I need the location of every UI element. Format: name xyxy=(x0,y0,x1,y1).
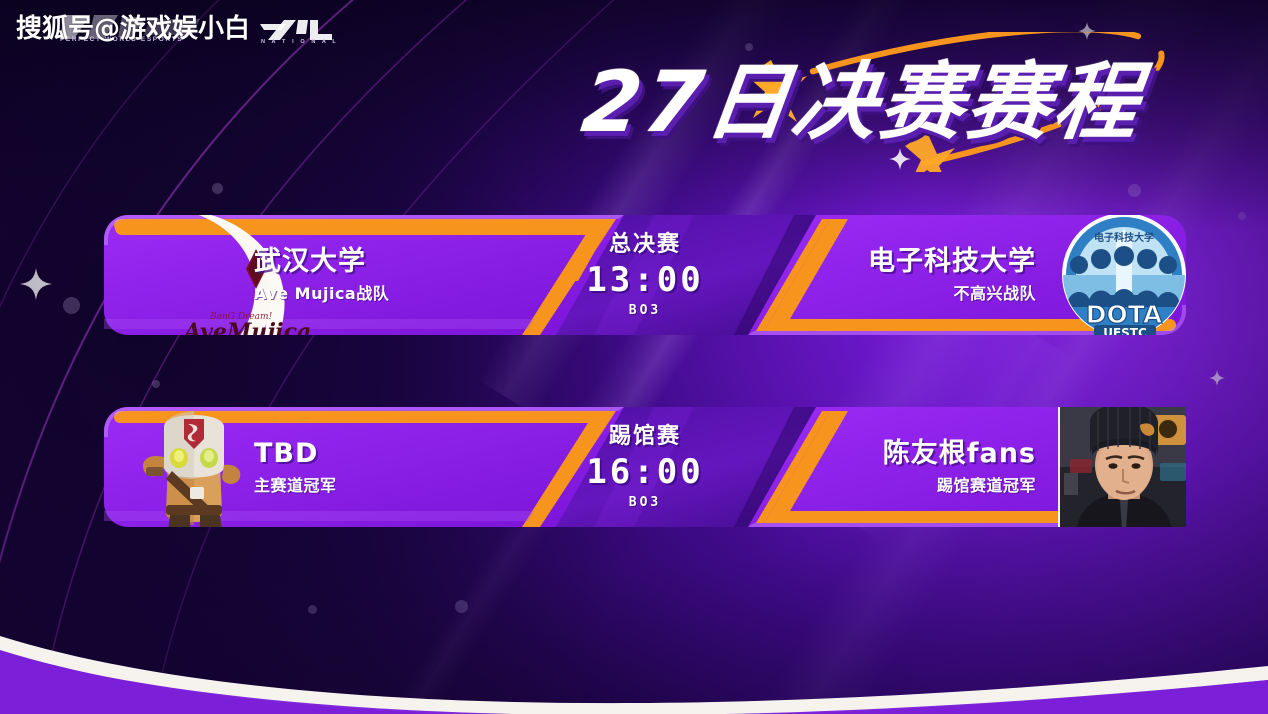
dota-uestc-circle-logo: DOTA UESTC 电子科技大学 xyxy=(1062,215,1186,335)
team-left-name: 武汉大学 xyxy=(254,246,366,278)
match-row[interactable]: TBD 主赛道冠军 踢馆赛 16:00 BO3 陈友根fans 踢馆赛道冠军 xyxy=(104,407,1186,527)
team-right-name: 电子科技大学 xyxy=(868,246,1036,278)
page-title: 27日决赛赛程 xyxy=(577,54,1147,150)
team-right: 陈友根fans 踢馆赛道冠军 xyxy=(883,407,1036,527)
svg-text:UESTC: UESTC xyxy=(1103,326,1147,335)
team-left: TBD 主赛道冠军 xyxy=(254,407,337,527)
match-row[interactable]: BanG Dream! AveMujica xyxy=(104,215,1186,335)
team-left-sub: Ave Mujica战队 xyxy=(254,283,389,305)
pnl-tagline: N A T I O N A L xyxy=(261,39,338,45)
svg-text:电子科技大学: 电子科技大学 xyxy=(1094,231,1154,244)
team-right: 电子科技大学 不高兴战队 xyxy=(868,215,1036,335)
player-photo-avatar xyxy=(1058,407,1186,527)
svg-text:DOTA: DOTA xyxy=(1086,300,1163,329)
team-left: 武汉大学 Ave Mujica战队 xyxy=(254,215,389,335)
title-block: 27日决赛赛程 xyxy=(575,32,1255,172)
team-right-sub: 不高兴战队 xyxy=(953,283,1036,305)
team-right-sub: 踢馆赛道冠军 xyxy=(937,475,1036,497)
team-right-name: 陈友根fans xyxy=(883,438,1036,470)
team-left-sub: 主赛道冠军 xyxy=(254,475,337,497)
schedule-poster: PERFECT WORLD ESPORTS N A T I O N A L 搜狐… xyxy=(0,0,1268,714)
team-left-name: TBD xyxy=(254,438,318,470)
bottom-swoosh-decoration xyxy=(0,524,1268,714)
watermark-text: 搜狐号@游戏娱小白 xyxy=(16,8,250,45)
